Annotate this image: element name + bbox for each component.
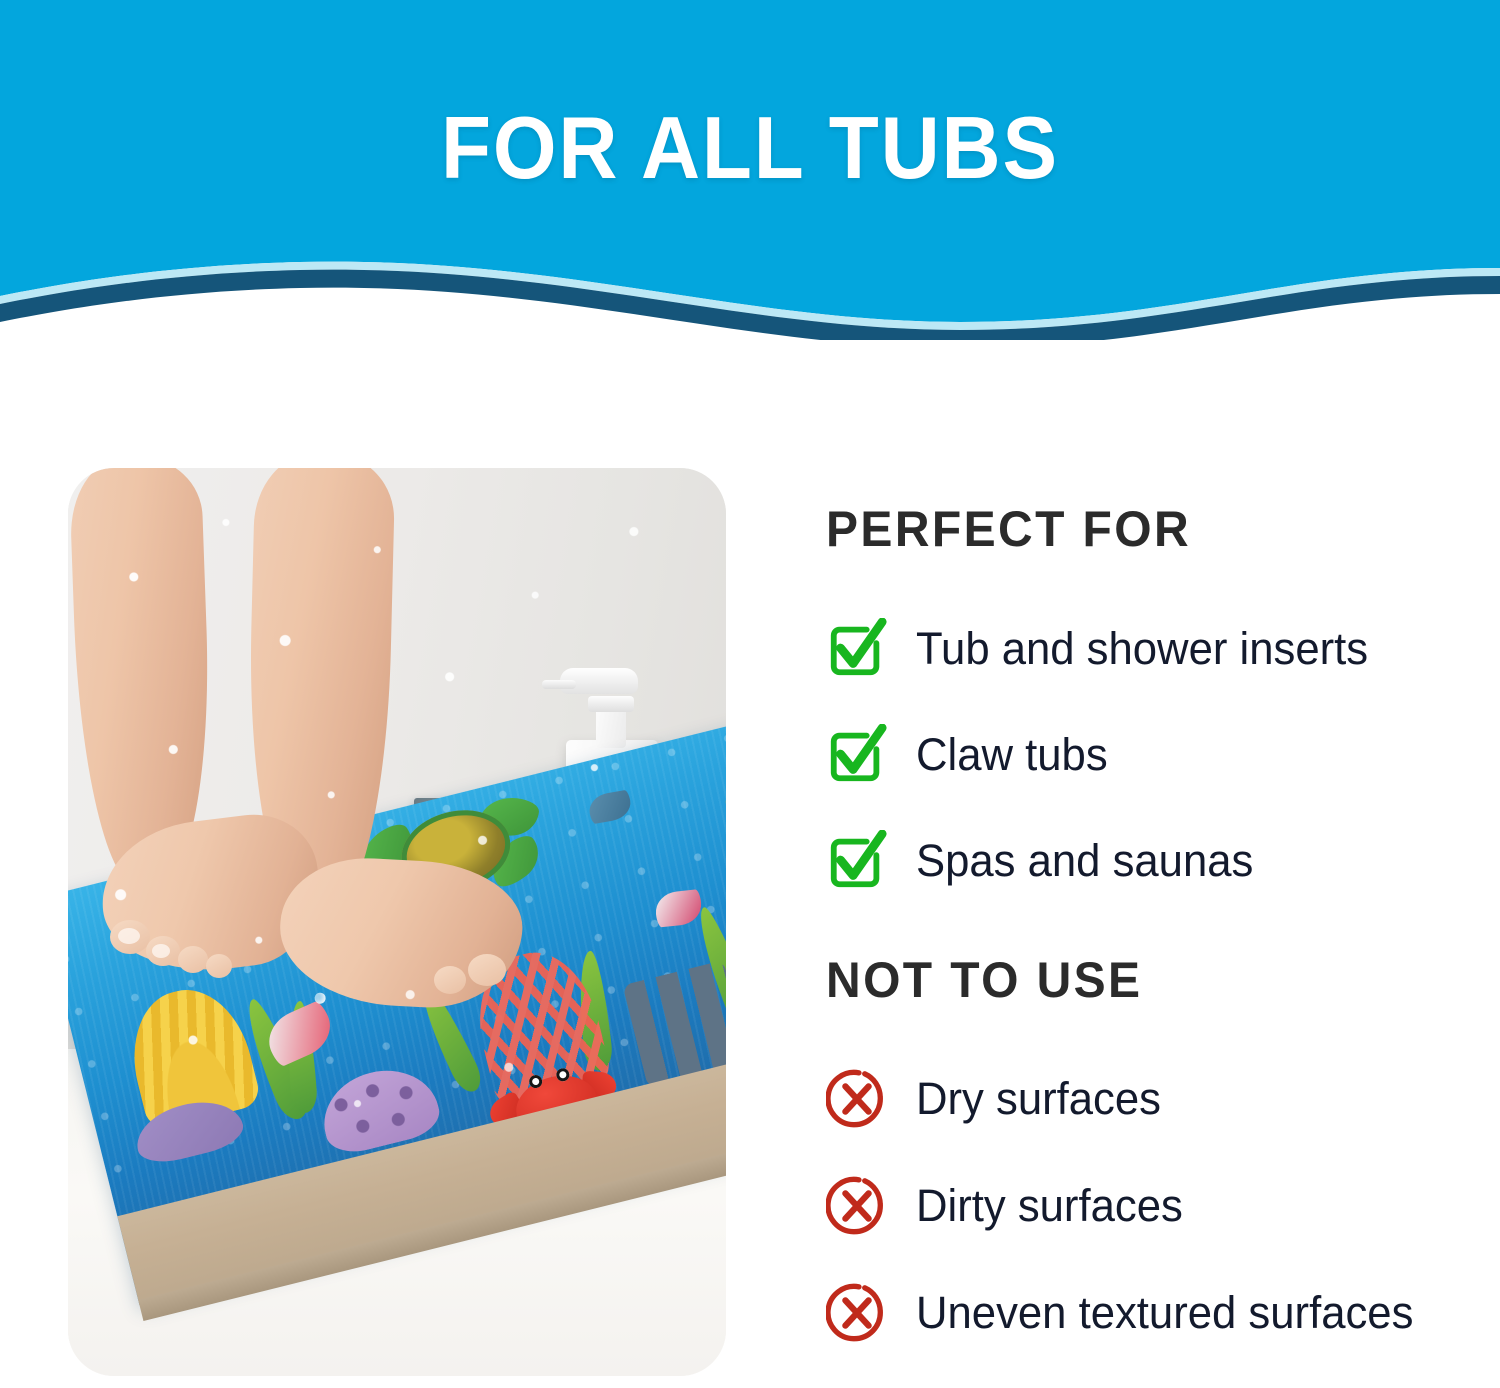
list-item-label: Claw tubs <box>916 730 1108 780</box>
toe <box>434 966 466 994</box>
red-circle-x-icon <box>826 1068 888 1130</box>
list-item: Uneven textured surfaces <box>826 1282 1429 1344</box>
section-heading-not-to-use: NOT TO USE <box>826 955 1142 1005</box>
header-banner: FOR ALL TUBS <box>0 0 1500 340</box>
list-item-label: Dry surfaces <box>916 1074 1161 1124</box>
list-item-label: Tub and shower inserts <box>916 624 1368 674</box>
soap-dispenser-spout <box>542 680 576 689</box>
green-check-icon <box>826 830 888 892</box>
list-item-label: Spas and saunas <box>916 836 1253 886</box>
red-circle-x-icon <box>826 1282 888 1344</box>
list-item-label: Uneven textured surfaces <box>916 1288 1413 1338</box>
list-item: Dirty surfaces <box>826 1175 1191 1237</box>
green-check-icon <box>826 724 888 786</box>
list-item: Spas and saunas <box>826 830 1264 892</box>
green-check-icon <box>826 618 888 680</box>
red-circle-x-icon <box>826 1175 888 1237</box>
page-title: FOR ALL TUBS <box>53 104 1448 192</box>
list-item: Claw tubs <box>826 724 1114 786</box>
toe <box>178 946 208 973</box>
toe <box>468 954 506 986</box>
list-item: Dry surfaces <box>826 1068 1169 1130</box>
soap-dispenser-collar <box>588 696 634 712</box>
list-item-label: Dirty surfaces <box>916 1181 1183 1231</box>
toenail <box>118 928 140 944</box>
list-item: Tub and shower inserts <box>826 618 1382 680</box>
lifestyle-photo <box>68 468 726 1376</box>
main-content: PERFECT FOR Tub and shower inserts Claw … <box>0 340 1500 1388</box>
toenail <box>152 944 170 958</box>
section-heading-perfect-for: PERFECT FOR <box>826 504 1191 554</box>
toe <box>206 954 232 978</box>
